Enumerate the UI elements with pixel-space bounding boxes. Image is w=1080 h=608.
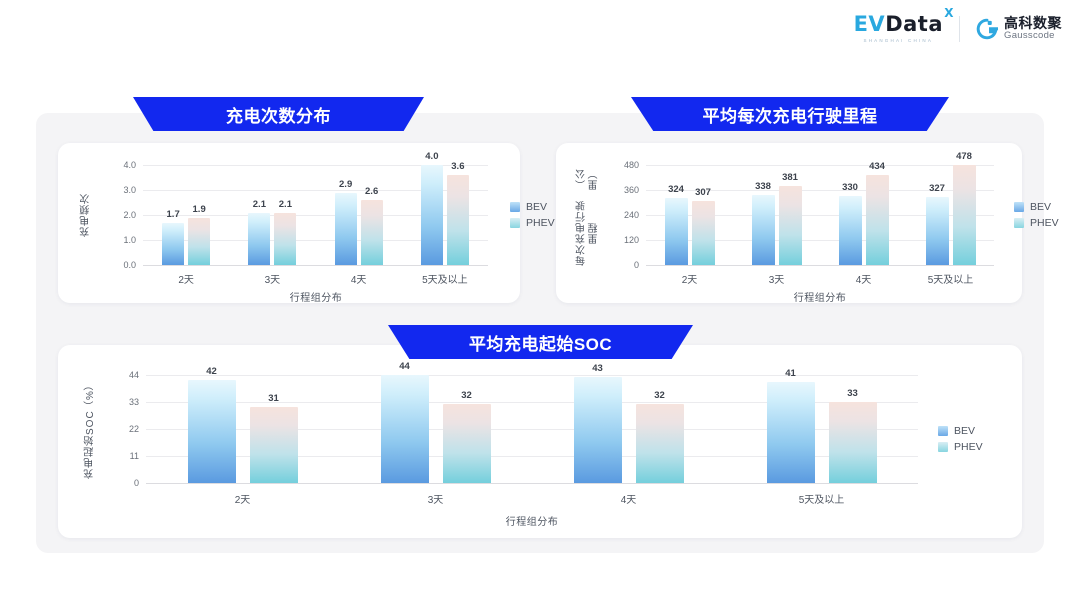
x-axis-category-label: 4天 [856,271,872,286]
y-axis-tick-label: 240 [599,210,639,220]
bar-chart-start-soc: 充电起始SOC（%）01122334442312天44323天43324天413… [58,345,1022,538]
bar-value-label: 324 [668,184,684,195]
bar-phev[interactable] [361,200,383,265]
bar-bev[interactable] [335,193,357,266]
bar-bev[interactable] [574,377,622,483]
legend-swatch-icon [1014,202,1024,212]
y-axis-tick-label: 11 [99,451,139,461]
bar-chart-charging-frequency: 充电频次0.01.02.03.04.01.71.92天2.12.13天2.92.… [58,143,520,303]
evdata-tagline: SHANGHAI CHINA [864,38,934,43]
logo-divider [959,16,960,42]
x-axis-category-label: 2天 [178,271,194,286]
legend-swatch-icon [510,202,520,212]
legend-label: PHEV [1030,217,1059,229]
bar-value-label: 2.1 [253,199,266,210]
x-axis-label: 行程组分布 [506,513,559,528]
x-axis-category-label: 2天 [235,491,251,506]
y-axis-tick-label: 2.0 [96,210,136,220]
y-axis-label-line2: （公里） [577,161,602,197]
legend-swatch-icon [938,426,948,436]
bar-value-label: 2.9 [339,179,352,190]
bar-bev[interactable] [752,195,775,265]
bar-phev[interactable] [443,404,491,483]
bar-phev[interactable] [692,201,715,265]
bar-value-label: 32 [461,390,472,401]
y-axis-label-line1: 每次充电行驶里程 [577,197,602,269]
bar-bev[interactable] [926,197,949,265]
x-axis-label: 行程组分布 [794,289,847,304]
x-axis-category-label: 3天 [265,271,281,286]
y-axis-tick-label: 44 [99,370,139,380]
bar-phev[interactable] [829,402,877,483]
chart-legend: BEVPHEV [1014,201,1059,229]
chart-title-banner-2: 平均每次充电行驶里程 [631,97,949,131]
y-axis-tick-label: 360 [599,185,639,195]
bar-bev[interactable] [381,375,429,483]
y-axis-tick-label: 3.0 [96,185,136,195]
x-axis-category-label: 3天 [769,271,785,286]
y-axis-tick-label: 0 [599,260,639,270]
chart-legend: BEVPHEV [938,425,983,453]
bar-value-label: 3.6 [451,161,464,172]
bar-phev[interactable] [779,186,802,265]
y-axis-tick-label: 4.0 [96,160,136,170]
gausscode-logo: 高科数聚 Gausscode [976,16,1062,41]
evdata-suffix: Data [885,12,943,36]
bar-value-label: 31 [268,393,279,404]
bar-value-label: 33 [847,388,858,399]
x-axis-category-label: 5天及以上 [422,271,468,286]
gridline [646,165,994,166]
chart-legend: BEVPHEV [510,201,555,229]
y-axis-tick-label: 0.0 [96,260,136,270]
legend-label: PHEV [526,217,555,229]
gausscode-text: 高科数聚 Gausscode [1004,16,1062,41]
gridline [146,375,918,376]
x-axis-line [146,483,918,484]
evdata-prefix: EV [854,12,886,36]
bar-value-label: 307 [695,187,711,198]
bar-phev[interactable] [866,175,889,265]
bar-value-label: 43 [592,363,603,374]
y-axis-tick-label: 33 [99,397,139,407]
x-axis-category-label: 4天 [621,491,637,506]
bar-value-label: 478 [956,151,972,162]
x-axis-line [143,265,488,266]
evdata-superscript-icon: X [944,7,954,19]
bar-value-label: 42 [206,366,217,377]
legend-label: BEV [954,425,975,437]
y-axis-label-line1: 充电起始SOC [85,411,98,480]
legend-swatch-icon [510,218,520,228]
chart-card-mileage-per-charge: 每次充电行驶里程（公里）01202403604803243072天3383813… [556,143,1022,303]
legend-label: BEV [1030,201,1051,213]
y-axis-tick-label: 22 [99,424,139,434]
bar-value-label: 434 [869,161,885,172]
x-axis-category-label: 5天及以上 [928,271,974,286]
chart-title-2: 平均每次充电行驶里程 [693,102,888,127]
legend-swatch-icon [938,442,948,452]
bar-phev[interactable] [250,407,298,483]
legend-item-bev[interactable]: BEV [938,425,983,437]
legend-item-phev[interactable]: PHEV [938,441,983,453]
chart-title-3: 平均充电起始SOC [459,330,622,355]
y-axis-label: 充电频次 [80,165,94,265]
evdata-logo: EVDataX SHANGHAI CHINA [854,14,943,43]
bar-chart-mileage-per-charge: 每次充电行驶里程（公里）01202403604803243072天3383813… [556,143,1022,303]
gausscode-name-cn: 高科数聚 [1004,16,1062,31]
bar-phev[interactable] [188,218,210,266]
brand-logo-bar: EVDataX SHANGHAI CHINA 高科数聚 Gausscode [854,14,1062,43]
legend-swatch-icon [1014,218,1024,228]
legend-item-phev[interactable]: PHEV [510,217,555,229]
evdata-wordmark: EVDataX [854,14,943,35]
bar-value-label: 4.0 [425,151,438,162]
x-axis-line [646,265,994,266]
bar-value-label: 330 [842,182,858,193]
x-axis-label: 行程组分布 [290,289,343,304]
bar-bev[interactable] [188,380,236,483]
y-axis-tick-label: 120 [599,235,639,245]
x-axis-category-label: 3天 [428,491,444,506]
y-axis-tick-label: 480 [599,160,639,170]
x-axis-category-label: 4天 [351,271,367,286]
bar-phev[interactable] [636,404,684,483]
slide-page: EVDataX SHANGHAI CHINA 高科数聚 Gausscode 充电… [0,0,1080,608]
bar-bev[interactable] [162,223,184,266]
legend-item-bev[interactable]: BEV [510,201,555,213]
bar-value-label: 327 [929,183,945,194]
y-axis-tick-label: 0 [99,478,139,488]
bar-value-label: 41 [785,368,796,379]
y-axis-tick-label: 1.0 [96,235,136,245]
bar-value-label: 338 [755,181,771,192]
bar-phev[interactable] [447,175,469,265]
gausscode-mark-icon [976,18,998,40]
bar-value-label: 1.7 [167,209,180,220]
gausscode-name-en: Gausscode [1004,31,1062,41]
chart-title-banner-1: 充电次数分布 [133,97,424,131]
bar-phev[interactable] [274,213,296,266]
bar-value-label: 32 [654,390,665,401]
bar-phev[interactable] [953,165,976,265]
x-axis-category-label: 5天及以上 [799,491,845,506]
bar-bev[interactable] [767,382,815,483]
chart-card-start-soc: 充电起始SOC（%）01122334442312天44323天43324天413… [58,345,1022,538]
bar-bev[interactable] [839,196,862,265]
bar-value-label: 1.9 [193,204,206,215]
legend-label: PHEV [954,441,983,453]
legend-label: BEV [526,201,547,213]
bar-value-label: 2.1 [279,199,292,210]
chart-title-banner-3: 平均充电起始SOC [388,325,693,359]
legend-item-phev[interactable]: PHEV [1014,217,1059,229]
x-axis-category-label: 2天 [682,271,698,286]
legend-item-bev[interactable]: BEV [1014,201,1059,213]
bar-value-label: 44 [399,361,410,372]
bar-value-label: 381 [782,172,798,183]
bar-value-label: 2.6 [365,186,378,197]
chart-title-1: 充电次数分布 [216,102,341,127]
y-axis-label-line2: （%） [85,379,98,411]
bar-bev[interactable] [421,165,443,265]
bar-bev[interactable] [248,213,270,266]
bar-bev[interactable] [665,198,688,266]
chart-card-charging-frequency: 充电频次0.01.02.03.04.01.71.92天2.12.13天2.92.… [58,143,520,303]
